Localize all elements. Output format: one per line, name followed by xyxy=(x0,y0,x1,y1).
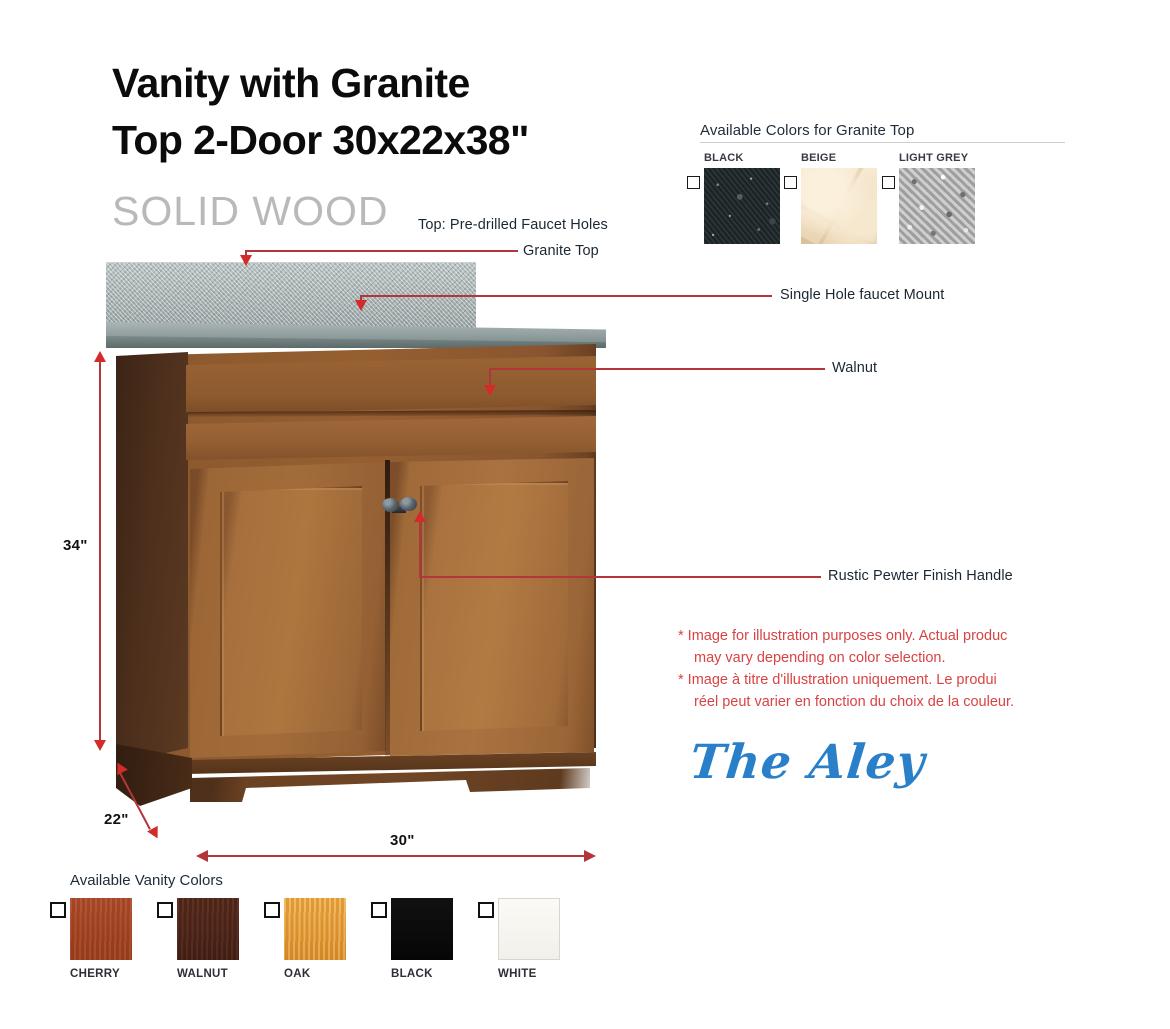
granite-checkbox-black[interactable] xyxy=(687,176,700,189)
vanity-checkbox-white[interactable] xyxy=(478,902,494,918)
disclaimer-line-4: réel peut varier en fonction du choix de… xyxy=(678,691,1058,713)
vanity-color-chip-black[interactable] xyxy=(391,898,453,960)
granite-swatch-light-grey[interactable]: LIGHT GREY xyxy=(899,152,975,244)
vanity-swatch-label-white: WHITE xyxy=(498,968,560,980)
callout-arrow-handle xyxy=(414,511,426,522)
vanity-swatch-walnut[interactable]: WALNUT xyxy=(177,898,239,980)
granite-swatch-label-light-grey: LIGHT GREY xyxy=(899,152,975,164)
callout-stem-handle xyxy=(419,522,421,577)
cabinet-top-rail xyxy=(186,356,596,414)
granite-color-chip-light-grey[interactable] xyxy=(899,168,975,244)
granite-color-chip-black[interactable] xyxy=(704,168,780,244)
dimension-arrow-height-top xyxy=(94,351,106,362)
granite-checkbox-light-grey[interactable] xyxy=(882,176,895,189)
callout-label-walnut: Walnut xyxy=(832,360,877,376)
callout-line-granite-top xyxy=(246,250,518,252)
callout-label-granite-top: Granite Top xyxy=(523,243,599,259)
dimension-label-height: 34" xyxy=(63,537,88,554)
cabinet-toe-kick xyxy=(190,768,590,802)
cabinet-door-left-panel xyxy=(220,486,366,740)
vanity-swatch-white[interactable]: WHITE xyxy=(498,898,560,980)
title-line-1: Vanity with Granite xyxy=(112,55,712,112)
callout-label-rustic-pewter-handle: Rustic Pewter Finish Handle xyxy=(828,568,1013,584)
cabinet-knob-right[interactable] xyxy=(400,497,417,511)
dimension-label-width: 30" xyxy=(390,832,415,849)
vanity-color-chip-white[interactable] xyxy=(498,898,560,960)
dimension-label-depth: 22" xyxy=(104,811,129,828)
dimension-line-width xyxy=(208,855,586,857)
vanity-color-chip-oak[interactable] xyxy=(284,898,346,960)
cabinet-knob-left[interactable] xyxy=(382,498,399,512)
cabinet-side-panel xyxy=(116,352,188,764)
cabinet-door-right-panel xyxy=(420,481,572,735)
vanity-swatch-label-cherry: CHERRY xyxy=(70,968,132,980)
granite-colors-panel: Available Colors for Granite Top BLACK B… xyxy=(700,122,1065,143)
granite-color-chip-beige[interactable] xyxy=(801,168,877,244)
dimension-arrow-width-right xyxy=(584,850,596,862)
disclaimer-line-2: may vary depending on color selection. xyxy=(678,647,1058,669)
dimension-line-height xyxy=(99,362,101,744)
granite-swatch-label-beige: BEIGE xyxy=(801,152,877,164)
granite-colors-heading: Available Colors for Granite Top xyxy=(700,122,1065,139)
vanity-checkbox-cherry[interactable] xyxy=(50,902,66,918)
page-title: Vanity with Granite Top 2-Door 30x22x38" xyxy=(112,55,712,169)
vanity-checkbox-black[interactable] xyxy=(371,902,387,918)
granite-checkbox-beige[interactable] xyxy=(784,176,797,189)
disclaimer-line-1: * Image for illustration purposes only. … xyxy=(678,625,1058,647)
vanity-swatch-cherry[interactable]: CHERRY xyxy=(70,898,132,980)
vanity-color-chip-cherry[interactable] xyxy=(70,898,132,960)
granite-swatch-label-black: BLACK xyxy=(704,152,780,164)
vanity-color-chip-walnut[interactable] xyxy=(177,898,239,960)
granite-swatch-black[interactable]: BLACK xyxy=(704,152,780,244)
granite-heading-divider xyxy=(700,142,1065,143)
callout-arrow-faucet-mount xyxy=(355,300,367,311)
callout-arrow-walnut xyxy=(484,385,496,396)
granite-swatch-beige[interactable]: BEIGE xyxy=(801,152,877,244)
vanity-swatch-label-walnut: WALNUT xyxy=(177,968,239,980)
callout-line-walnut xyxy=(489,368,825,370)
brand-logo: The Aley xyxy=(687,735,928,790)
title-line-2: Top 2-Door 30x22x38" xyxy=(112,112,712,169)
callout-line-faucet-mount xyxy=(360,295,772,297)
disclaimer-line-3: * Image à titre d'illustration uniquemen… xyxy=(678,669,1058,691)
disclaimer-block: * Image for illustration purposes only. … xyxy=(678,625,1058,713)
vanity-colors-heading: Available Vanity Colors xyxy=(70,872,223,889)
vanity-product-illustration xyxy=(98,258,618,858)
callout-line-handle xyxy=(419,576,821,578)
vanity-swatch-label-black: BLACK xyxy=(391,968,453,980)
callout-label-predrilled-faucet-holes: Top: Pre-drilled Faucet Holes xyxy=(418,217,608,233)
vanity-checkbox-oak[interactable] xyxy=(264,902,280,918)
dimension-arrow-width-left xyxy=(196,850,208,862)
vanity-swatch-label-oak: OAK xyxy=(284,968,346,980)
vanity-swatch-black[interactable]: BLACK xyxy=(391,898,453,980)
vanity-swatch-oak[interactable]: OAK xyxy=(284,898,346,980)
subtitle-solid-wood: SOLID WOOD xyxy=(112,186,389,236)
callout-arrow-granite-top xyxy=(240,255,252,266)
dimension-arrow-height-bottom xyxy=(94,740,106,751)
vanity-checkbox-walnut[interactable] xyxy=(157,902,173,918)
callout-label-single-hole-faucet-mount: Single Hole faucet Mount xyxy=(780,287,944,303)
